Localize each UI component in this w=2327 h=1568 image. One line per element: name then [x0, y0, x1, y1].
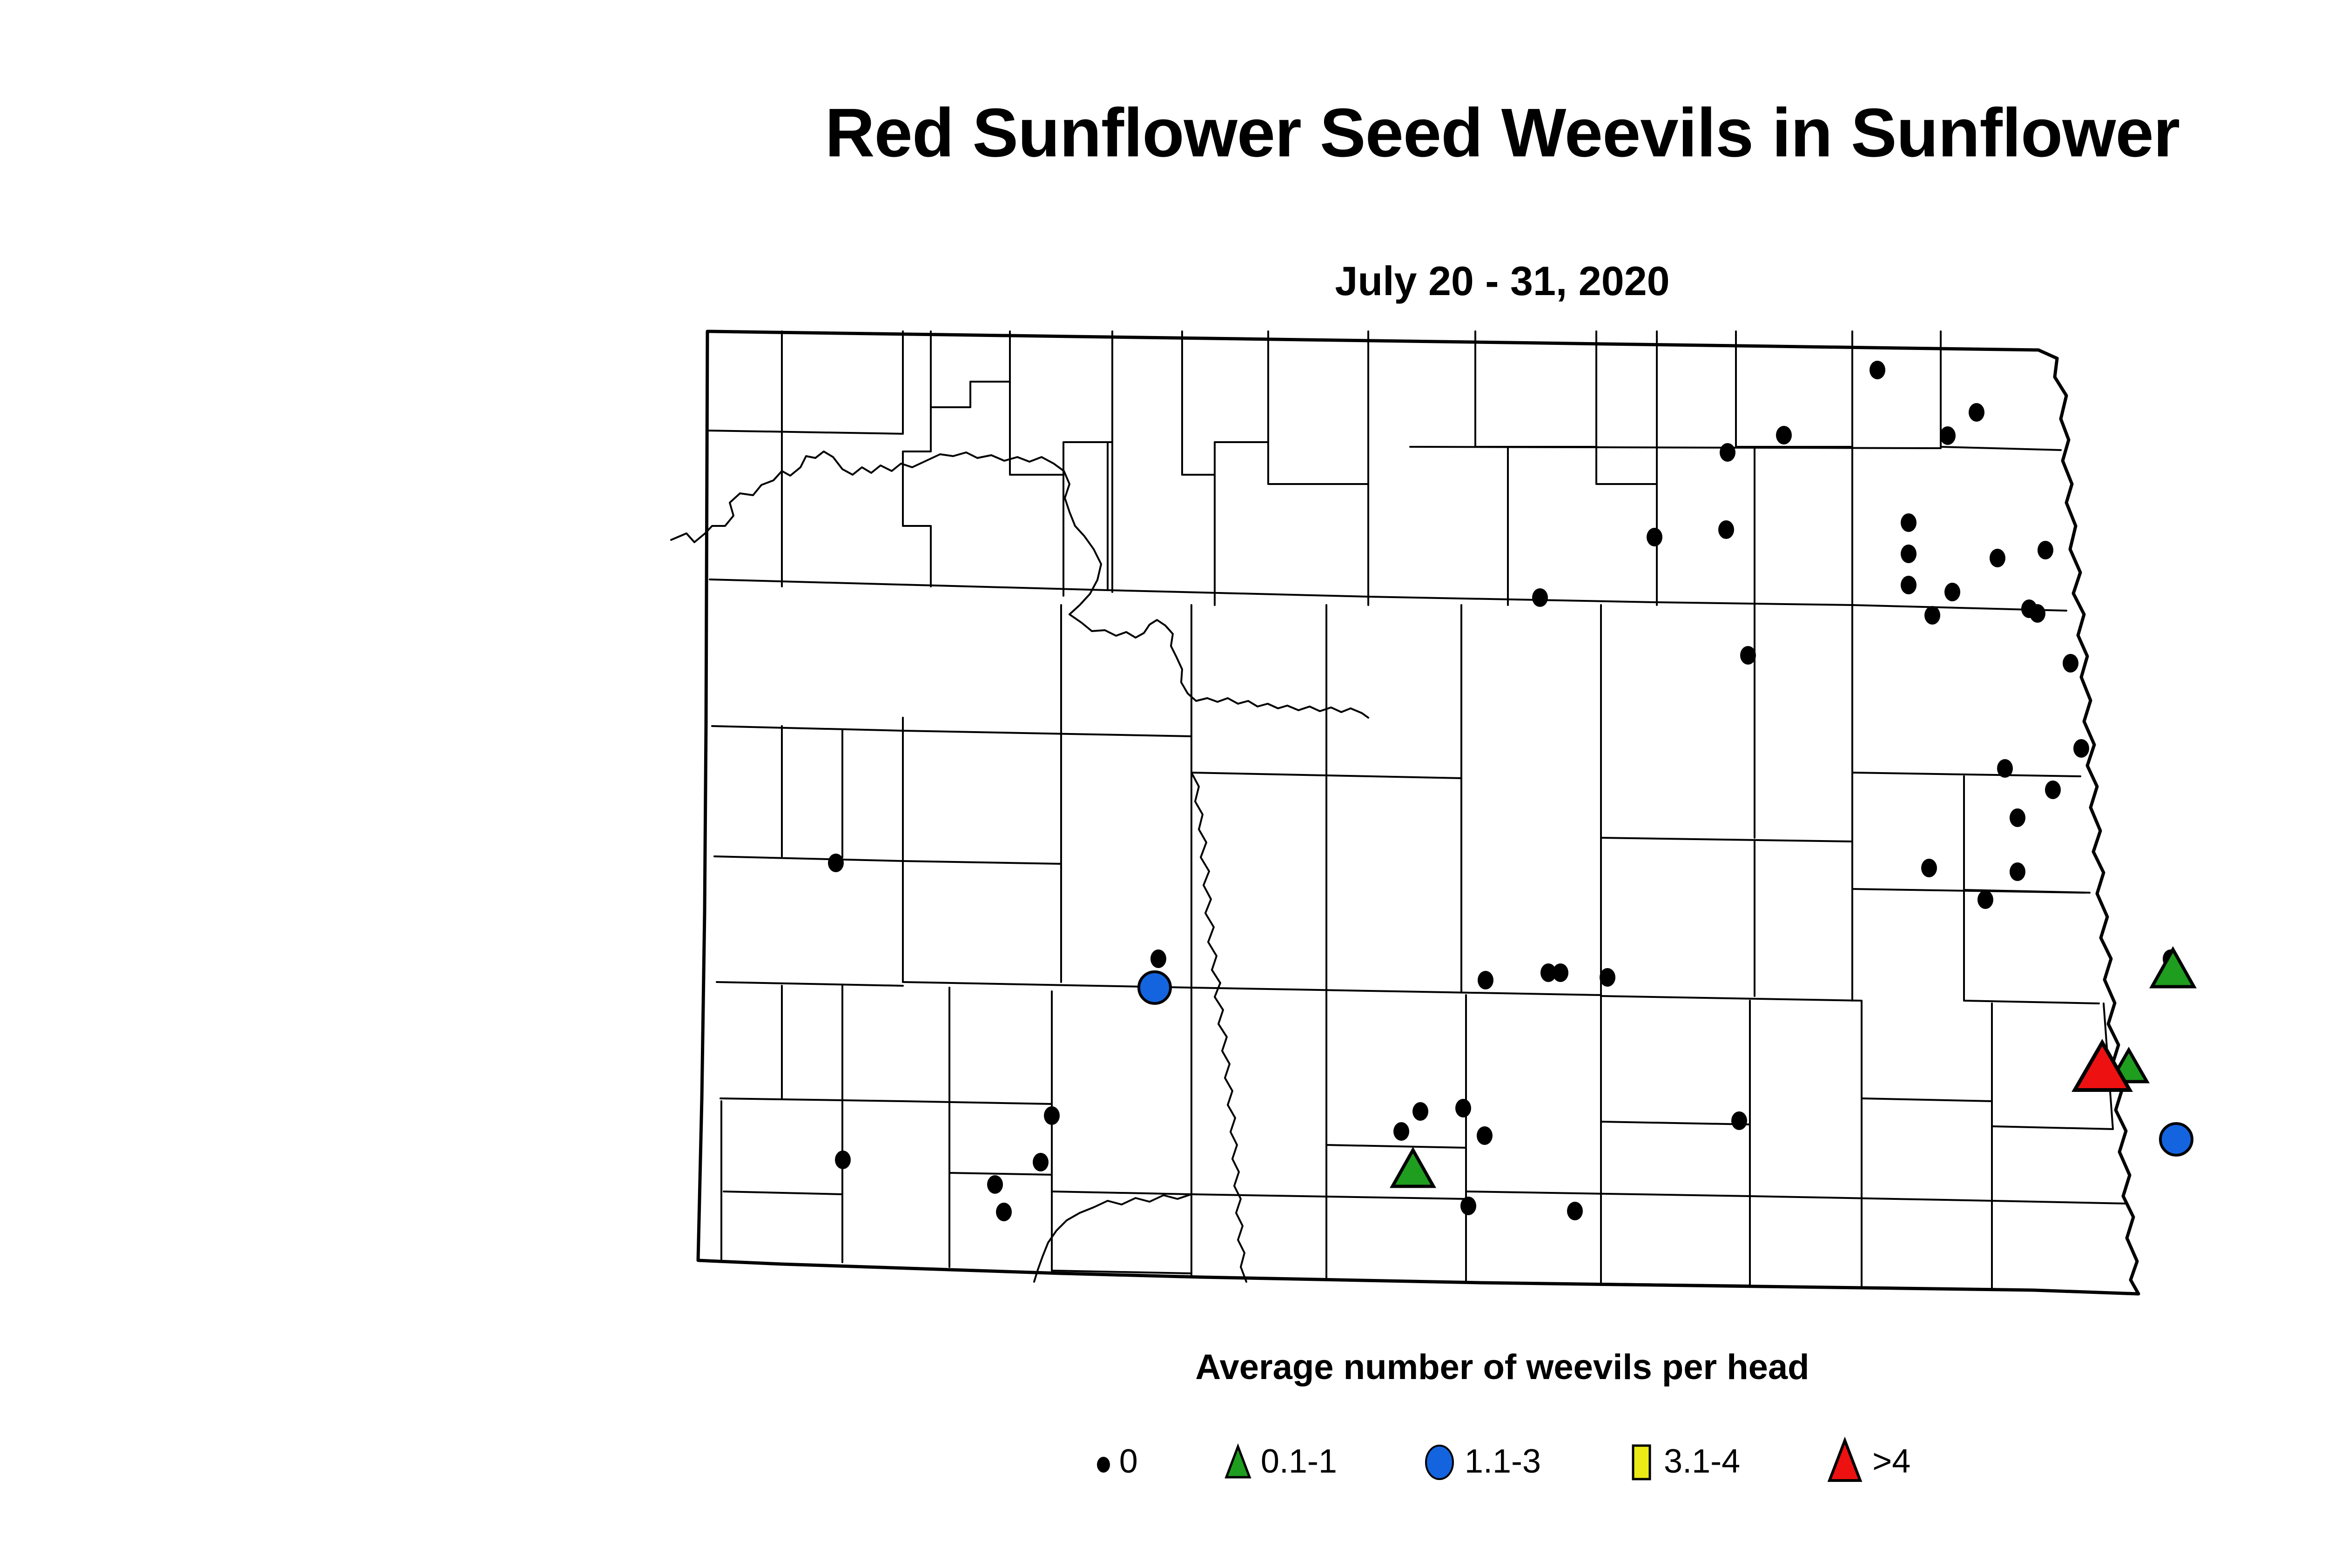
legend: 0 0.1-1 1.1-3 3.1-4 >4	[0, 1436, 2327, 1487]
legend-item-medium[interactable]: 1.1-3	[1421, 1438, 1541, 1485]
marker-blue-circle	[2160, 1124, 2192, 1155]
yellow-square-icon	[1625, 1438, 1657, 1485]
marker-zero	[2063, 654, 2078, 673]
legend-item-very-high[interactable]: >4	[1824, 1436, 1910, 1487]
marker-zero	[1033, 1153, 1049, 1171]
legend-label-very-high: >4	[1872, 1445, 1910, 1478]
marker-zero	[1731, 1111, 1747, 1130]
marker-zero	[987, 1175, 1003, 1194]
marker-zero	[1150, 949, 1166, 968]
marker-zero	[1720, 443, 1735, 462]
marker-zero	[1393, 1122, 1409, 1141]
marker-zero	[2045, 781, 2061, 799]
legend-label-medium: 1.1-3	[1465, 1445, 1541, 1478]
marker-zero	[1600, 968, 1615, 987]
map-svg	[642, 307, 2280, 1317]
page-subtitle: July 20 - 31, 2020	[0, 261, 2327, 302]
legend-heading: Average number of weevils per head	[0, 1350, 2327, 1385]
legend-label-high: 3.1-4	[1664, 1445, 1740, 1478]
map-page: Red Sunflower Seed Weevils in Sunflower …	[0, 0, 2327, 1568]
marker-zero	[1901, 545, 1917, 563]
marker-zero	[1455, 1099, 1471, 1117]
marker-zero	[835, 1151, 851, 1169]
north-dakota-map[interactable]	[642, 307, 2280, 1317]
marker-zero	[1990, 549, 2005, 567]
marker-zero	[1553, 963, 1568, 982]
page-title: Red Sunflower Seed Weevils in Sunflower	[0, 99, 2327, 168]
legend-label-low: 0.1-1	[1261, 1445, 1337, 1478]
blue-circle-icon	[1421, 1438, 1458, 1485]
state-outline	[698, 331, 2139, 1294]
marker-zero	[1870, 361, 1885, 379]
marker-zero	[2010, 808, 2025, 827]
green-triangle-icon	[1222, 1438, 1254, 1485]
marker-zero	[1718, 520, 1734, 539]
marker-zero	[1412, 1102, 1428, 1121]
marker-zero	[1977, 890, 1993, 909]
marker-green-triangle	[2152, 949, 2194, 987]
marker-zero	[996, 1203, 1012, 1221]
marker-zero	[1477, 1126, 1493, 1145]
red-triangle-icon	[1824, 1436, 1866, 1487]
marker-zero	[1532, 588, 1548, 607]
marker-zero	[1969, 403, 1984, 422]
marker-zero	[828, 854, 844, 872]
legend-label-zero: 0	[1119, 1445, 1138, 1478]
marker-zero	[1921, 859, 1937, 877]
marker-zero	[1478, 971, 1493, 989]
marker-zero	[2073, 739, 2089, 758]
marker-zero	[1567, 1202, 1583, 1220]
marker-zero	[1944, 583, 1960, 601]
marker-blue-circle	[1139, 972, 1170, 1003]
marker-zero	[2030, 604, 2045, 623]
marker-zero	[1901, 576, 1917, 594]
marker-zero	[1647, 528, 1662, 546]
marker-zero	[1044, 1106, 1060, 1125]
marker-zero	[1901, 513, 1917, 532]
small-black-circle-icon	[1094, 1440, 1113, 1482]
legend-item-zero[interactable]: 0	[1094, 1440, 1138, 1482]
marker-zero	[2038, 541, 2053, 559]
legend-item-low[interactable]: 0.1-1	[1222, 1438, 1337, 1485]
marker-zero	[1940, 426, 1956, 445]
marker-zero	[2010, 862, 2025, 881]
legend-item-high[interactable]: 3.1-4	[1625, 1438, 1740, 1485]
marker-zero	[1776, 426, 1792, 444]
map-counties	[671, 331, 2139, 1294]
marker-zero	[1924, 606, 1940, 625]
marker-zero	[1997, 759, 2013, 778]
marker-zero	[1740, 646, 1756, 665]
marker-zero	[1460, 1197, 1476, 1215]
